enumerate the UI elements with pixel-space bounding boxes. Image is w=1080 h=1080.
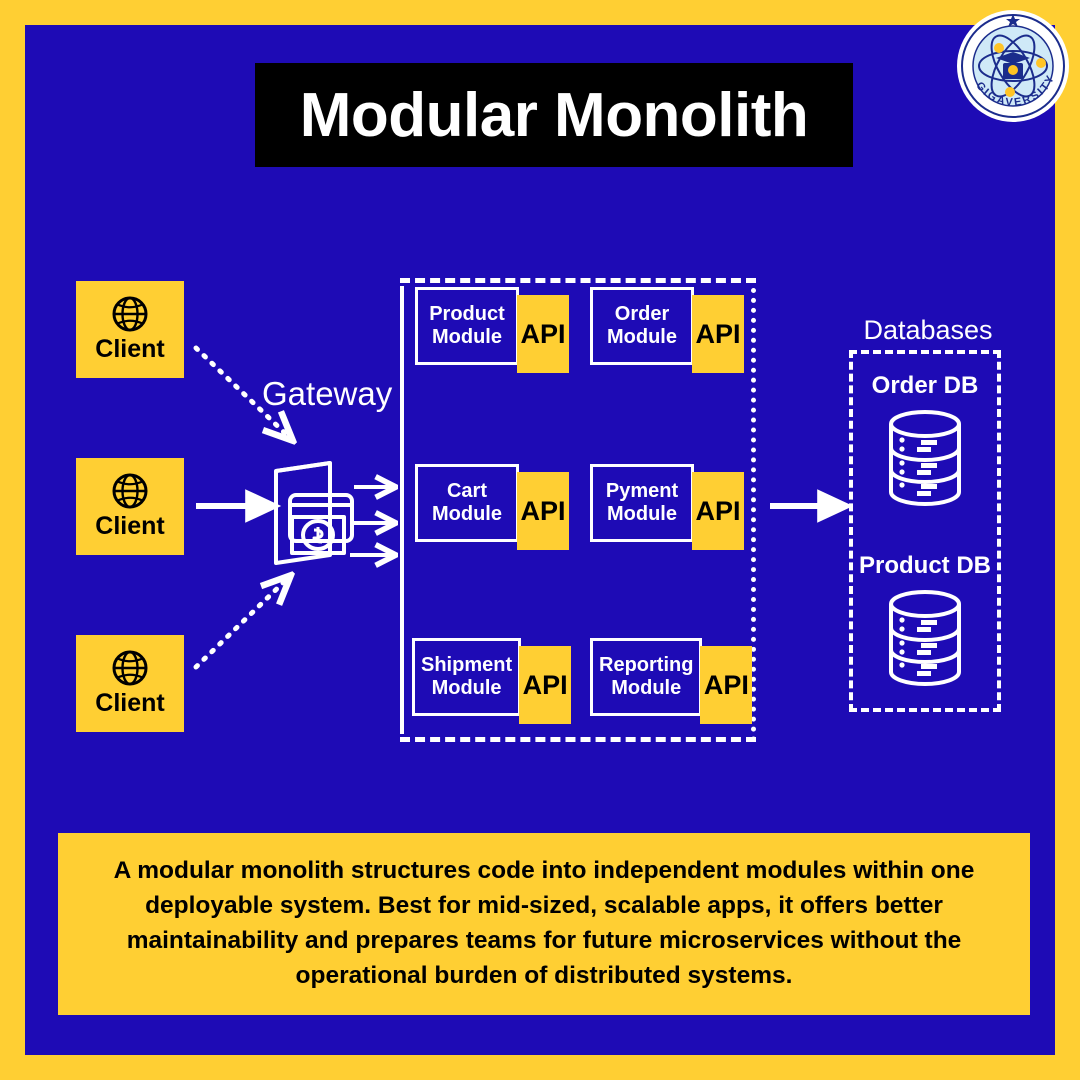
client-box[interactable]: Client (76, 458, 184, 555)
module-name: Pyment (606, 480, 678, 503)
api-tab[interactable]: API (692, 472, 744, 550)
monolith-border-top (400, 278, 756, 283)
client-box[interactable]: Client (76, 281, 184, 378)
module-subtitle: Module (432, 677, 502, 700)
module-card[interactable]: Pyment Module API (590, 464, 744, 542)
module-name: Order (615, 303, 669, 326)
caption-text: A modular monolith structures code into … (80, 854, 1008, 993)
gateway-icon (268, 443, 398, 568)
infographic-root: GIGAVERSITY Modular Monolith Client (0, 0, 1080, 1080)
module-body: Order Module (590, 287, 694, 365)
databases-title: Databases (848, 315, 1008, 346)
client-label: Client (95, 512, 164, 541)
client-label: Client (95, 335, 164, 364)
database-label: Product DB (859, 552, 991, 580)
database-item[interactable]: Order DB (849, 372, 1001, 508)
client-box[interactable]: Client (76, 635, 184, 732)
gigaversity-logo: GIGAVERSITY (955, 8, 1071, 124)
api-tab[interactable]: API (519, 646, 571, 724)
module-body: Pyment Module (590, 464, 694, 542)
module-name: Shipment (421, 654, 512, 677)
module-card[interactable]: Cart Module API (415, 464, 569, 542)
api-tab[interactable]: API (517, 472, 569, 550)
title-banner: Modular Monolith (255, 63, 853, 167)
module-card[interactable]: Reporting Module API (590, 638, 752, 716)
module-subtitle: Module (607, 326, 677, 349)
client-label: Client (95, 689, 164, 718)
api-tab[interactable]: API (692, 295, 744, 373)
module-subtitle: Module (611, 677, 681, 700)
module-card[interactable]: Shipment Module API (412, 638, 571, 716)
api-tab[interactable]: API (517, 295, 569, 373)
module-body: Reporting Module (590, 638, 702, 716)
module-name: Product (429, 303, 505, 326)
globe-icon (111, 472, 149, 510)
monolith-border-left (400, 286, 404, 734)
module-body: Product Module (415, 287, 519, 365)
caption-box: A modular monolith structures code into … (58, 833, 1030, 1015)
monolith-border-bottom (400, 737, 756, 742)
module-body: Shipment Module (412, 638, 521, 716)
module-subtitle: Module (432, 503, 502, 526)
module-name: Cart (447, 480, 487, 503)
module-subtitle: Module (607, 503, 677, 526)
globe-icon (111, 295, 149, 333)
database-label: Order DB (872, 372, 979, 400)
globe-icon (111, 649, 149, 687)
api-tab[interactable]: API (700, 646, 752, 724)
database-item[interactable]: Product DB (849, 552, 1001, 688)
page-title: Modular Monolith (300, 80, 809, 151)
database-cylinder-icon (879, 408, 971, 508)
module-card[interactable]: Product Module API (415, 287, 569, 365)
module-name: Reporting (599, 654, 693, 677)
gateway-label: Gateway (262, 375, 392, 413)
module-card[interactable]: Order Module API (590, 287, 744, 365)
module-body: Cart Module (415, 464, 519, 542)
module-subtitle: Module (432, 326, 502, 349)
database-cylinder-icon (879, 588, 971, 688)
